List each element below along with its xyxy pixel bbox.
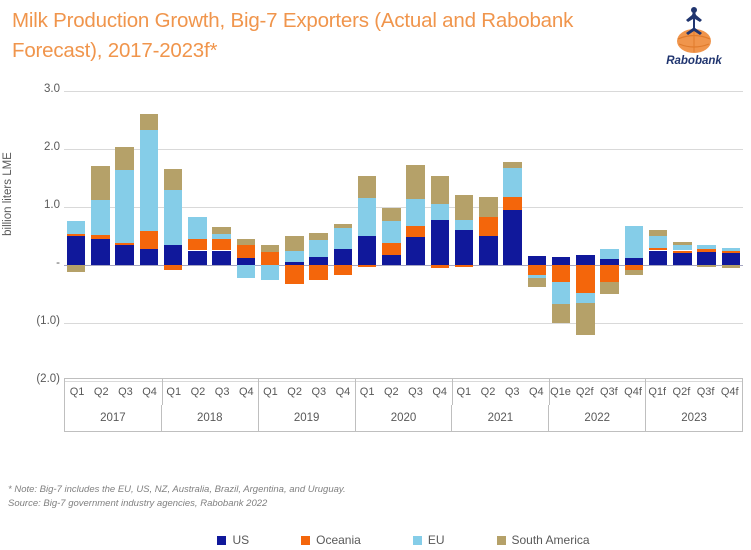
bar-segment-oceania[interactable] bbox=[237, 245, 255, 258]
bar-segment-eu[interactable] bbox=[649, 236, 667, 248]
bar-segment-south-america[interactable] bbox=[455, 195, 473, 219]
bar-segment-us[interactable] bbox=[164, 245, 182, 265]
bar-segment-south-america[interactable] bbox=[285, 236, 303, 251]
bar-segment-south-america[interactable] bbox=[237, 239, 255, 245]
legend-item[interactable]: Oceania bbox=[301, 530, 361, 550]
x-axis-quarter-label: Q1 bbox=[162, 379, 186, 405]
bar-group[interactable] bbox=[210, 86, 234, 386]
x-axis-year-label: 2022 bbox=[549, 405, 646, 432]
bar-segment-eu[interactable] bbox=[140, 130, 158, 232]
bar-segment-eu[interactable] bbox=[552, 282, 570, 304]
x-axis: Q1Q2Q3Q4Q1Q2Q3Q4Q1Q2Q3Q4Q1Q2Q3Q4Q1Q2Q3Q4… bbox=[64, 378, 743, 432]
bar-group[interactable] bbox=[234, 86, 258, 386]
bar-segment-south-america[interactable] bbox=[528, 278, 546, 287]
bar-segment-south-america[interactable] bbox=[406, 165, 424, 200]
bar-group[interactable] bbox=[258, 86, 282, 386]
bar-group[interactable] bbox=[549, 86, 573, 386]
bar-segment-us[interactable] bbox=[67, 236, 85, 265]
x-axis-quarter-label: Q3 bbox=[403, 379, 427, 405]
bar-group[interactable] bbox=[694, 86, 718, 386]
bar-segment-eu[interactable] bbox=[334, 228, 352, 248]
bar-segment-oceania[interactable] bbox=[455, 265, 473, 267]
bar-segment-oceania[interactable] bbox=[576, 265, 594, 293]
y-axis-tick-label: (1.0) bbox=[16, 315, 60, 327]
y-axis-tick-label: 3.0 bbox=[16, 83, 60, 95]
bar-segment-eu[interactable] bbox=[722, 248, 740, 251]
bar-segment-oceania[interactable] bbox=[722, 251, 740, 253]
bar-segment-oceania[interactable] bbox=[309, 265, 327, 280]
bar-segment-us[interactable] bbox=[673, 253, 691, 265]
x-axis-quarter-label: Q2 bbox=[89, 379, 113, 405]
chart-legend: USOceaniaEUSouth America bbox=[64, 530, 743, 550]
bar-segment-oceania[interactable] bbox=[67, 234, 85, 236]
legend-label: EU bbox=[428, 533, 445, 547]
x-axis-quarter-label: Q1e bbox=[548, 379, 572, 405]
chart-plot-area: billion liters LME 3.02.01.0-(1.0)(2.0) … bbox=[0, 86, 751, 436]
x-axis-quarter-label: Q4 bbox=[331, 379, 355, 405]
bar-segment-eu[interactable] bbox=[358, 198, 376, 236]
bar-segment-us[interactable] bbox=[91, 239, 109, 265]
bar-segment-south-america[interactable] bbox=[625, 270, 643, 276]
bar-segment-south-america[interactable] bbox=[140, 114, 158, 130]
bar-segment-us[interactable] bbox=[455, 230, 473, 265]
bar-segment-eu[interactable] bbox=[455, 220, 473, 230]
bar-group[interactable] bbox=[525, 86, 549, 386]
bar-segment-us[interactable] bbox=[722, 253, 740, 265]
bar-segment-us[interactable] bbox=[115, 245, 133, 265]
bar-segment-south-america[interactable] bbox=[67, 265, 85, 272]
bar-group[interactable] bbox=[452, 86, 476, 386]
bar-group[interactable] bbox=[307, 86, 331, 386]
bar-segment-oceania[interactable] bbox=[334, 265, 352, 275]
bar-group[interactable] bbox=[113, 86, 137, 386]
bar-segment-south-america[interactable] bbox=[722, 265, 740, 268]
bar-group[interactable] bbox=[622, 86, 646, 386]
x-axis-years: 2017201820192020202120222023 bbox=[65, 405, 742, 432]
bar-segment-oceania[interactable] bbox=[673, 251, 691, 254]
bar-segment-us[interactable] bbox=[309, 257, 327, 265]
x-axis-year-label: 2018 bbox=[162, 405, 259, 432]
bar-group[interactable] bbox=[137, 86, 161, 386]
bar-segment-oceania[interactable] bbox=[140, 231, 158, 248]
bar-group[interactable] bbox=[598, 86, 622, 386]
bar-segment-south-america[interactable] bbox=[164, 169, 182, 189]
x-axis-year-separator bbox=[355, 379, 356, 405]
bar-segment-oceania[interactable] bbox=[649, 248, 667, 251]
chart-header: Milk Production Growth, Big-7 Exporters … bbox=[8, 4, 743, 82]
bar-segment-oceania[interactable] bbox=[528, 265, 546, 275]
bar-segment-eu[interactable] bbox=[261, 265, 279, 280]
x-axis-year-separator bbox=[645, 379, 646, 405]
bar-segment-oceania[interactable] bbox=[600, 265, 618, 282]
bar-segment-oceania[interactable] bbox=[382, 243, 400, 255]
x-axis-quarter-label: Q2 bbox=[283, 379, 307, 405]
y-axis-ticks: 3.02.01.0-(1.0)(2.0) bbox=[10, 86, 60, 386]
y-axis-tick-label: 2.0 bbox=[16, 141, 60, 153]
footnote-note: * Note: Big-7 includes the EU, US, NZ, A… bbox=[8, 483, 708, 497]
bar-segment-eu[interactable] bbox=[285, 251, 303, 263]
bar-segment-eu[interactable] bbox=[382, 221, 400, 243]
bar-segment-eu[interactable] bbox=[164, 190, 182, 245]
x-axis-quarter-label: Q1 bbox=[452, 379, 476, 405]
legend-swatch bbox=[217, 536, 226, 545]
legend-item[interactable]: EU bbox=[413, 530, 445, 550]
x-axis-quarter-label: Q3 bbox=[307, 379, 331, 405]
bar-segment-us[interactable] bbox=[697, 252, 715, 265]
bar-segment-us[interactable] bbox=[625, 258, 643, 265]
bar-segment-south-america[interactable] bbox=[479, 197, 497, 217]
chart-footnotes: * Note: Big-7 includes the EU, US, NZ, A… bbox=[8, 483, 708, 510]
bar-segment-oceania[interactable] bbox=[358, 265, 376, 267]
bar-segment-us[interactable] bbox=[358, 236, 376, 265]
legend-item[interactable]: US bbox=[217, 530, 249, 550]
bar-segment-eu[interactable] bbox=[212, 234, 230, 239]
bar-segment-us[interactable] bbox=[140, 249, 158, 265]
y-axis-tick-label: 1.0 bbox=[16, 199, 60, 211]
bar-segment-us[interactable] bbox=[406, 237, 424, 265]
bar-segment-eu[interactable] bbox=[67, 221, 85, 234]
x-axis-quarter-label: Q1 bbox=[355, 379, 379, 405]
bar-segment-south-america[interactable] bbox=[212, 227, 230, 234]
x-axis-quarter-label: Q3 bbox=[500, 379, 524, 405]
x-axis-quarter-label: Q4 bbox=[524, 379, 548, 405]
bar-segment-oceania[interactable] bbox=[431, 265, 449, 268]
bar-segment-us[interactable] bbox=[552, 257, 570, 265]
bar-group[interactable] bbox=[88, 86, 112, 386]
legend-item[interactable]: South America bbox=[497, 530, 590, 550]
bar-segment-south-america[interactable] bbox=[431, 176, 449, 204]
x-axis-year-separator bbox=[258, 379, 259, 405]
x-axis-year-label: 2021 bbox=[452, 405, 549, 432]
bar-group[interactable] bbox=[428, 86, 452, 386]
x-axis-year-label: 2020 bbox=[356, 405, 453, 432]
x-axis-quarter-label: Q3 bbox=[113, 379, 137, 405]
bar-segment-south-america[interactable] bbox=[382, 208, 400, 221]
x-axis-year-separator bbox=[452, 379, 453, 405]
bar-group[interactable] bbox=[476, 86, 500, 386]
bar-segment-us[interactable] bbox=[431, 220, 449, 265]
bar-series-container bbox=[64, 86, 743, 386]
x-axis-quarter-label: Q4 bbox=[428, 379, 452, 405]
x-axis-quarter-label: Q1f bbox=[645, 379, 669, 405]
bar-segment-us[interactable] bbox=[528, 256, 546, 265]
bar-segment-us[interactable] bbox=[576, 255, 594, 265]
x-axis-quarter-label: Q1 bbox=[65, 379, 89, 405]
x-axis-quarter-label: Q2 bbox=[186, 379, 210, 405]
x-axis-quarter-label: Q3f bbox=[597, 379, 621, 405]
bar-segment-south-america[interactable] bbox=[552, 304, 570, 323]
bar-segment-us[interactable] bbox=[503, 210, 521, 265]
x-axis-quarter-label: Q2f bbox=[573, 379, 597, 405]
bar-group[interactable] bbox=[64, 86, 88, 386]
bar-segment-oceania[interactable] bbox=[212, 239, 230, 251]
x-axis-quarter-label: Q1 bbox=[258, 379, 282, 405]
x-axis-quarter-label: Q2 bbox=[476, 379, 500, 405]
x-axis-year-separator bbox=[162, 379, 163, 405]
x-axis-quarter-label: Q3f bbox=[693, 379, 717, 405]
x-axis-year-label: 2023 bbox=[646, 405, 742, 432]
bar-segment-eu[interactable] bbox=[309, 240, 327, 257]
bar-segment-eu[interactable] bbox=[188, 217, 206, 239]
bar-segment-south-america[interactable] bbox=[576, 303, 594, 335]
bar-segment-us[interactable] bbox=[479, 236, 497, 265]
bar-segment-south-america[interactable] bbox=[91, 166, 109, 200]
x-axis-quarter-label: Q4f bbox=[718, 379, 742, 405]
legend-label: US bbox=[232, 533, 249, 547]
rabobank-logo-icon bbox=[664, 6, 724, 54]
legend-swatch bbox=[413, 536, 422, 545]
x-axis-year-label: 2017 bbox=[65, 405, 162, 432]
bar-group[interactable] bbox=[331, 86, 355, 386]
bar-segment-oceania[interactable] bbox=[261, 252, 279, 265]
bar-segment-eu[interactable] bbox=[91, 200, 109, 235]
bar-segment-south-america[interactable] bbox=[334, 224, 352, 229]
bar-segment-eu[interactable] bbox=[625, 226, 643, 258]
bar-segment-us[interactable] bbox=[237, 258, 255, 265]
bar-segment-us[interactable] bbox=[649, 251, 667, 266]
bar-segment-south-america[interactable] bbox=[115, 147, 133, 170]
bar-segment-south-america[interactable] bbox=[261, 245, 279, 252]
bar-segment-oceania[interactable] bbox=[91, 235, 109, 239]
bar-group[interactable] bbox=[355, 86, 379, 386]
bar-segment-south-america[interactable] bbox=[600, 282, 618, 294]
bar-segment-oceania[interactable] bbox=[503, 197, 521, 210]
bar-segment-eu[interactable] bbox=[503, 168, 521, 197]
legend-swatch bbox=[301, 536, 310, 545]
y-axis-tick-label: (2.0) bbox=[16, 373, 60, 385]
brand-logo: Rabobank bbox=[651, 6, 737, 67]
bar-segment-eu[interactable] bbox=[697, 245, 715, 250]
bar-segment-oceania[interactable] bbox=[552, 265, 570, 282]
bar-group[interactable] bbox=[719, 86, 743, 386]
bar-segment-us[interactable] bbox=[382, 255, 400, 265]
bar-segment-south-america[interactable] bbox=[673, 242, 691, 245]
bar-segment-south-america[interactable] bbox=[358, 176, 376, 198]
x-axis-quarter-label: Q4f bbox=[621, 379, 645, 405]
bar-segment-south-america[interactable] bbox=[309, 233, 327, 240]
footnote-source: Source: Big-7 government industry agenci… bbox=[8, 497, 708, 511]
bar-segment-eu[interactable] bbox=[237, 265, 255, 278]
x-axis-year-separator bbox=[549, 379, 550, 405]
bar-segment-us[interactable] bbox=[212, 251, 230, 266]
legend-swatch bbox=[497, 536, 506, 545]
bar-group[interactable] bbox=[573, 86, 597, 386]
bar-segment-eu[interactable] bbox=[115, 170, 133, 243]
bar-segment-oceania[interactable] bbox=[164, 265, 182, 270]
bar-segment-oceania[interactable] bbox=[285, 265, 303, 284]
bar-segment-eu[interactable] bbox=[431, 204, 449, 220]
bar-segment-oceania[interactable] bbox=[188, 239, 206, 251]
bar-group[interactable] bbox=[404, 86, 428, 386]
bar-segment-eu[interactable] bbox=[600, 249, 618, 259]
bar-segment-oceania[interactable] bbox=[479, 217, 497, 236]
bar-group[interactable] bbox=[670, 86, 694, 386]
bar-segment-us[interactable] bbox=[188, 251, 206, 266]
bar-group[interactable] bbox=[185, 86, 209, 386]
x-axis-quarter-label: Q4 bbox=[138, 379, 162, 405]
bar-segment-eu[interactable] bbox=[576, 293, 594, 303]
bar-segment-south-america[interactable] bbox=[503, 162, 521, 168]
bar-segment-oceania[interactable] bbox=[697, 249, 715, 252]
logo-wordmark: Rabobank bbox=[651, 55, 737, 67]
x-axis-quarter-label: Q4 bbox=[234, 379, 258, 405]
y-axis-tick-label: - bbox=[16, 257, 60, 269]
bar-segment-us[interactable] bbox=[334, 249, 352, 265]
x-axis-quarter-label: Q2 bbox=[379, 379, 403, 405]
page-title: Milk Production Growth, Big-7 Exporters … bbox=[12, 6, 612, 66]
legend-label: South America bbox=[512, 533, 590, 547]
bar-segment-eu[interactable] bbox=[673, 245, 691, 251]
bar-group[interactable] bbox=[501, 86, 525, 386]
bar-group[interactable] bbox=[646, 86, 670, 386]
bar-group[interactable] bbox=[379, 86, 403, 386]
bar-segment-oceania[interactable] bbox=[406, 226, 424, 238]
bar-group[interactable] bbox=[282, 86, 306, 386]
legend-label: Oceania bbox=[316, 533, 361, 547]
bar-segment-south-america[interactable] bbox=[697, 265, 715, 267]
bar-segment-oceania[interactable] bbox=[115, 243, 133, 245]
x-axis-quarters: Q1Q2Q3Q4Q1Q2Q3Q4Q1Q2Q3Q4Q1Q2Q3Q4Q1Q2Q3Q4… bbox=[65, 379, 742, 405]
x-axis-quarter-label: Q2f bbox=[669, 379, 693, 405]
bar-segment-south-america[interactable] bbox=[649, 230, 667, 236]
bar-group[interactable] bbox=[161, 86, 185, 386]
x-axis-year-label: 2019 bbox=[259, 405, 356, 432]
x-axis-quarter-label: Q3 bbox=[210, 379, 234, 405]
bar-segment-eu[interactable] bbox=[406, 199, 424, 225]
